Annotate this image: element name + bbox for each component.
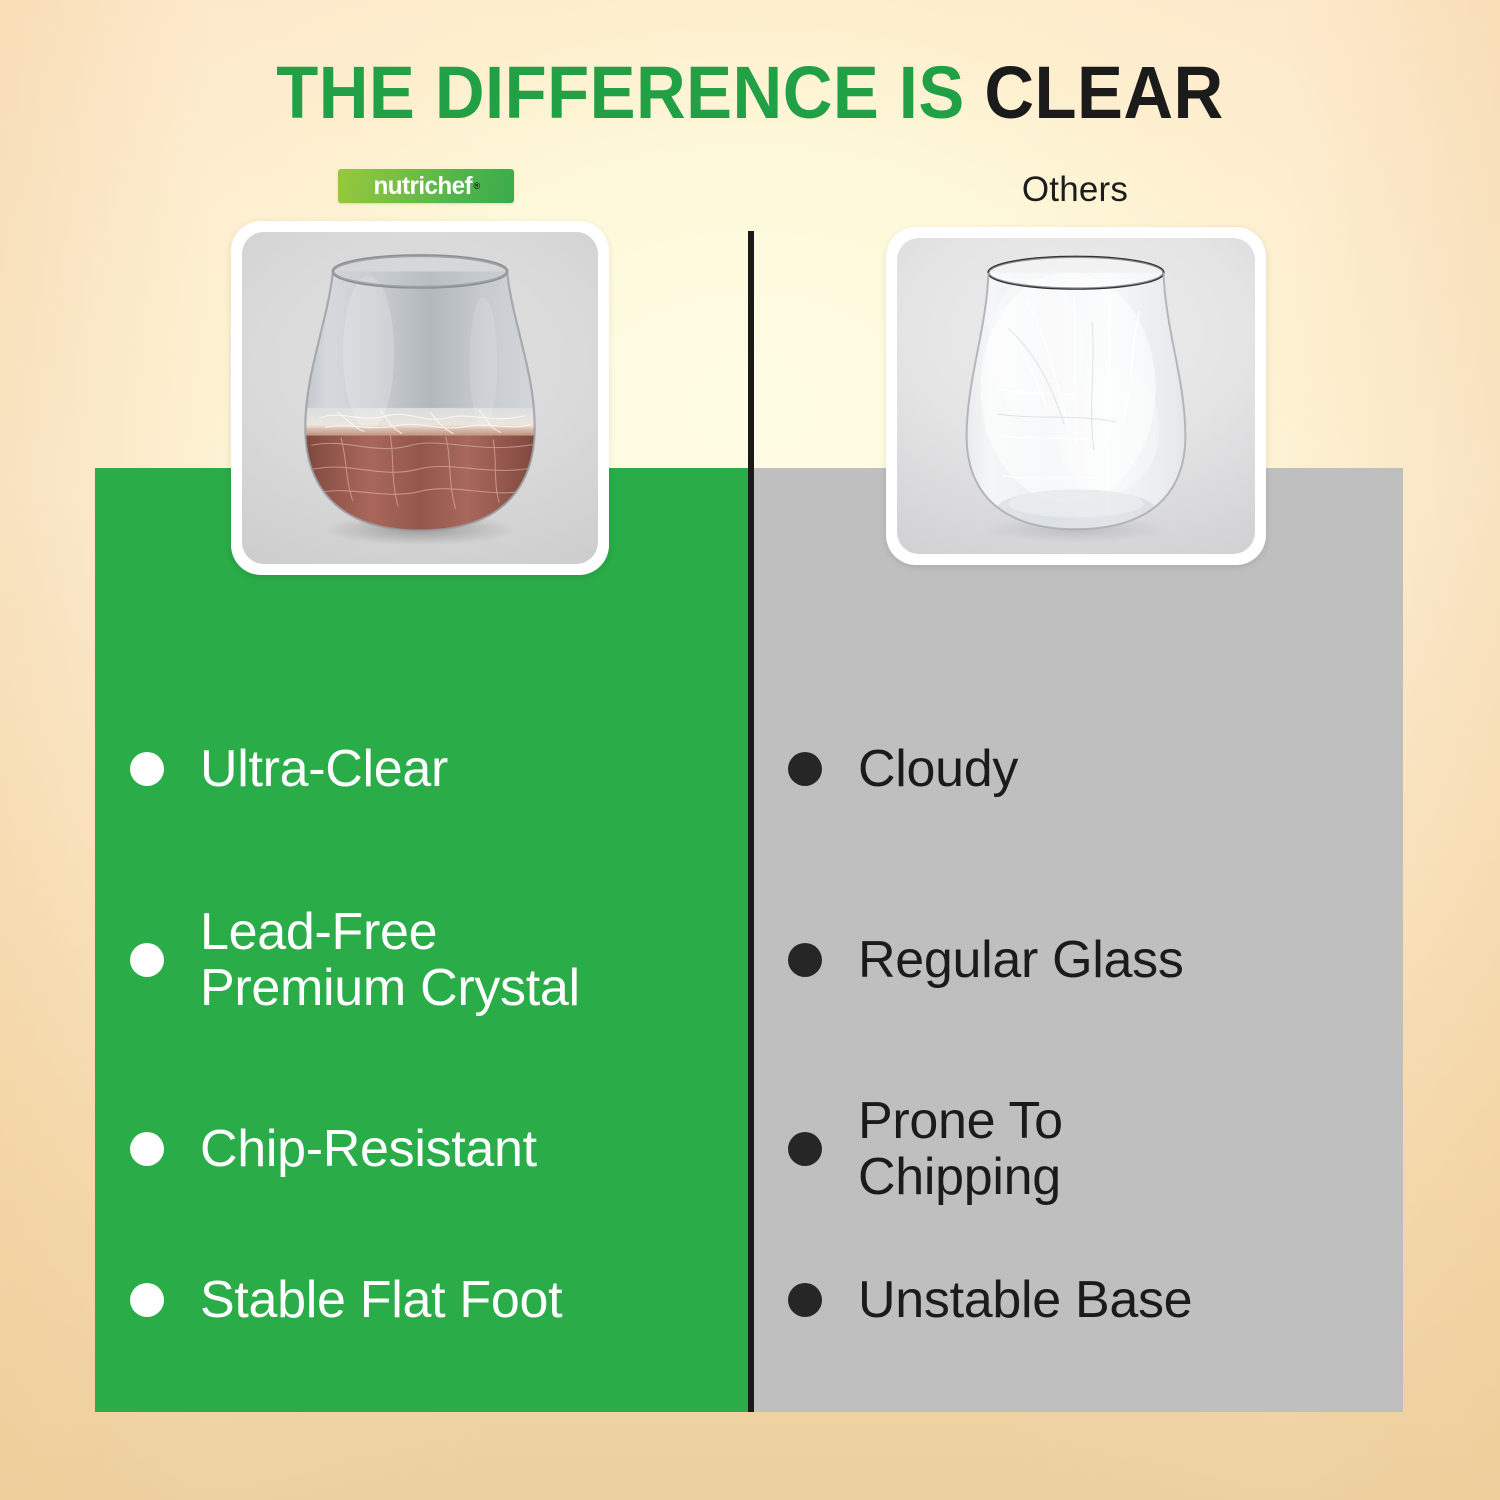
nutrichef-feature-list: Ultra-Clear Lead-Free Premium Crystal Ch…	[130, 676, 730, 1360]
others-feature-list: Cloudy Regular Glass Prone To Chipping U…	[788, 676, 1388, 1360]
trademark-symbol: ®	[473, 181, 480, 191]
page-title: THE DIFFERENCE IS CLEAR	[53, 56, 1448, 130]
crackle-glass-illustration	[242, 232, 598, 564]
column-divider	[748, 231, 754, 1412]
others-product-photo	[897, 238, 1255, 554]
list-item: Lead-Free Premium Crystal	[130, 862, 730, 1058]
feature-label: Regular Glass	[858, 932, 1184, 988]
bullet-icon	[130, 943, 164, 977]
nutrichef-product-photo	[242, 232, 598, 564]
list-item: Unstable Base	[788, 1240, 1388, 1360]
others-product-image-card	[886, 227, 1266, 565]
title-black-text: CLEAR	[984, 51, 1223, 134]
bullet-icon	[788, 1132, 822, 1166]
nutrichef-wordmark: nutrichef	[373, 172, 472, 201]
bullet-icon	[130, 1132, 164, 1166]
list-item: Cloudy	[788, 676, 1388, 862]
feature-label: Prone To Chipping	[858, 1093, 1063, 1205]
feature-label: Stable Flat Foot	[200, 1272, 562, 1328]
nutrichef-logo-badge: nutrichef®	[338, 169, 514, 203]
feature-label: Lead-Free Premium Crystal	[200, 904, 580, 1016]
feature-label: Unstable Base	[858, 1272, 1192, 1328]
feature-label: Ultra-Clear	[200, 741, 448, 797]
title-green-text: THE DIFFERENCE IS	[276, 51, 965, 134]
bullet-icon	[788, 943, 822, 977]
bullet-icon	[130, 752, 164, 786]
feature-label: Cloudy	[858, 741, 1018, 797]
feature-label: Chip-Resistant	[200, 1121, 537, 1177]
list-item: Regular Glass	[788, 862, 1388, 1058]
bullet-icon	[788, 1283, 822, 1317]
others-column-header: Others	[880, 170, 1270, 210]
cloudy-glass-illustration	[897, 238, 1255, 554]
list-item: Ultra-Clear	[130, 676, 730, 862]
list-item: Chip-Resistant	[130, 1058, 730, 1240]
bullet-icon	[788, 752, 822, 786]
nutrichef-product-image-card	[231, 221, 609, 575]
list-item: Stable Flat Foot	[130, 1240, 730, 1360]
bullet-icon	[130, 1283, 164, 1317]
list-item: Prone To Chipping	[788, 1058, 1388, 1240]
